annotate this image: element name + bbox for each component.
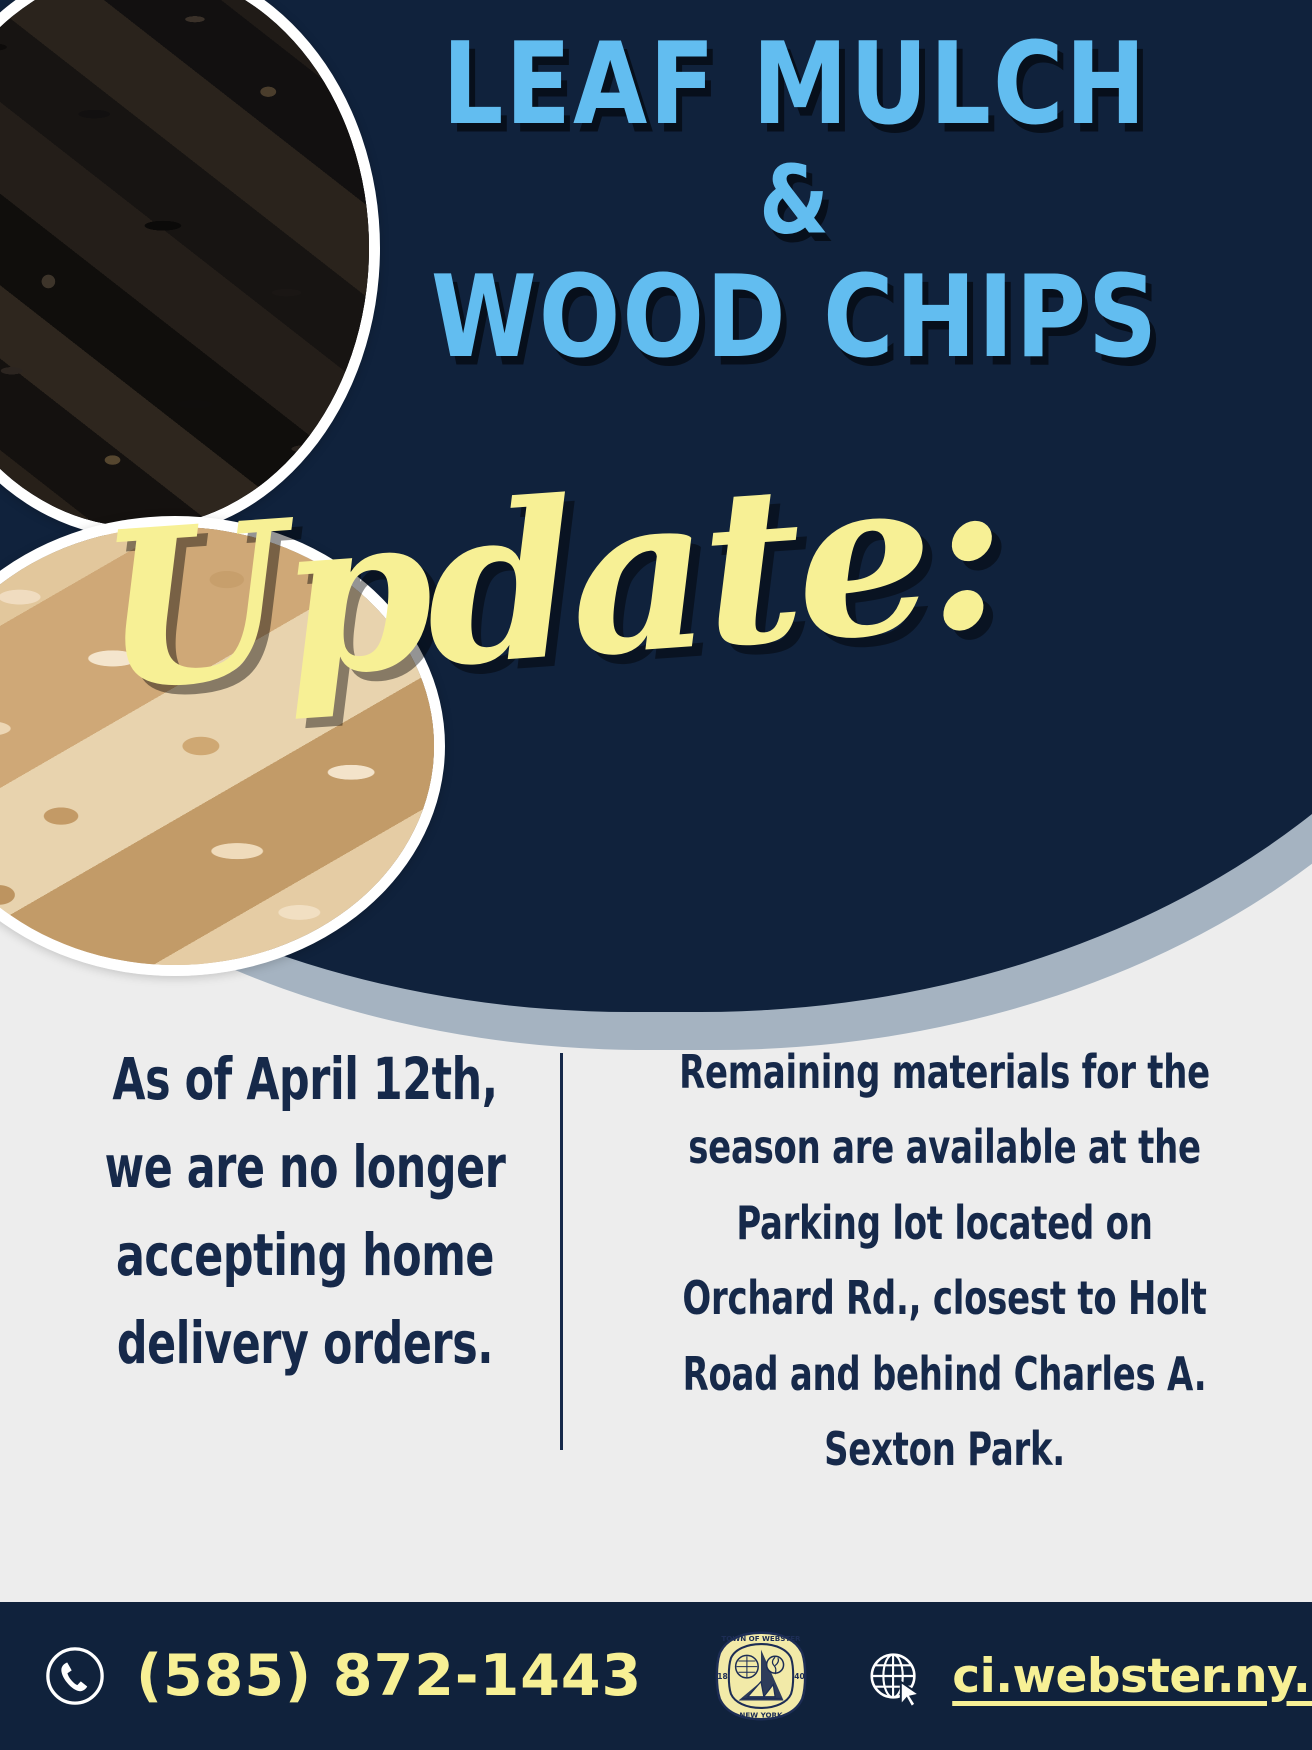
town-of-webster-seal: TOWN OF WEBSTER NEW YORK 18 40 <box>714 1629 808 1723</box>
seal-right-number: 40 <box>795 1672 805 1681</box>
leaf-mulch-photo <box>0 0 380 538</box>
seal-bottom-text: NEW YORK <box>740 1710 784 1719</box>
pickup-location-text: Remaining materials for the season are a… <box>666 1035 1223 1488</box>
update-script-word: Update: <box>93 456 806 719</box>
delivery-notice-text: As of April 12th, we are no longer accep… <box>96 1035 514 1388</box>
website-url-text[interactable]: ci.webster.ny.us/634/Mulch <box>952 1649 1312 1704</box>
phone-contact[interactable]: (585) 872-1443 <box>44 1643 642 1709</box>
seal-left-number: 18 <box>717 1672 727 1681</box>
website-link-group[interactable]: ci.webster.ny.us/634/Mulch <box>864 1645 1312 1707</box>
right-column: Remaining materials for the season are a… <box>563 1035 1312 1488</box>
left-column: As of April 12th, we are no longer accep… <box>0 1035 560 1388</box>
phone-icon <box>44 1645 106 1707</box>
flyer-page: LEAF MULCH & WOOD CHIPS Update: As of Ap… <box>0 0 1312 1750</box>
hero-headline-group: LEAF MULCH & WOOD CHIPS <box>400 30 1190 355</box>
footer-bar: (585) 872-1443 TOWN OF WEBSTER NEW YORK … <box>0 1602 1312 1750</box>
headline-line-one: LEAF MULCH <box>400 30 1190 139</box>
leaf-mulch-texture <box>0 0 369 527</box>
seal-top-text: TOWN OF WEBSTER <box>722 1634 802 1643</box>
body-columns: As of April 12th, we are no longer accep… <box>0 1035 1312 1460</box>
globe-cursor-icon <box>864 1645 926 1707</box>
headline-ampersand: & <box>400 156 1190 247</box>
headline-line-two: WOOD CHIPS <box>400 263 1190 372</box>
phone-number-text: (585) 872-1443 <box>136 1643 642 1709</box>
